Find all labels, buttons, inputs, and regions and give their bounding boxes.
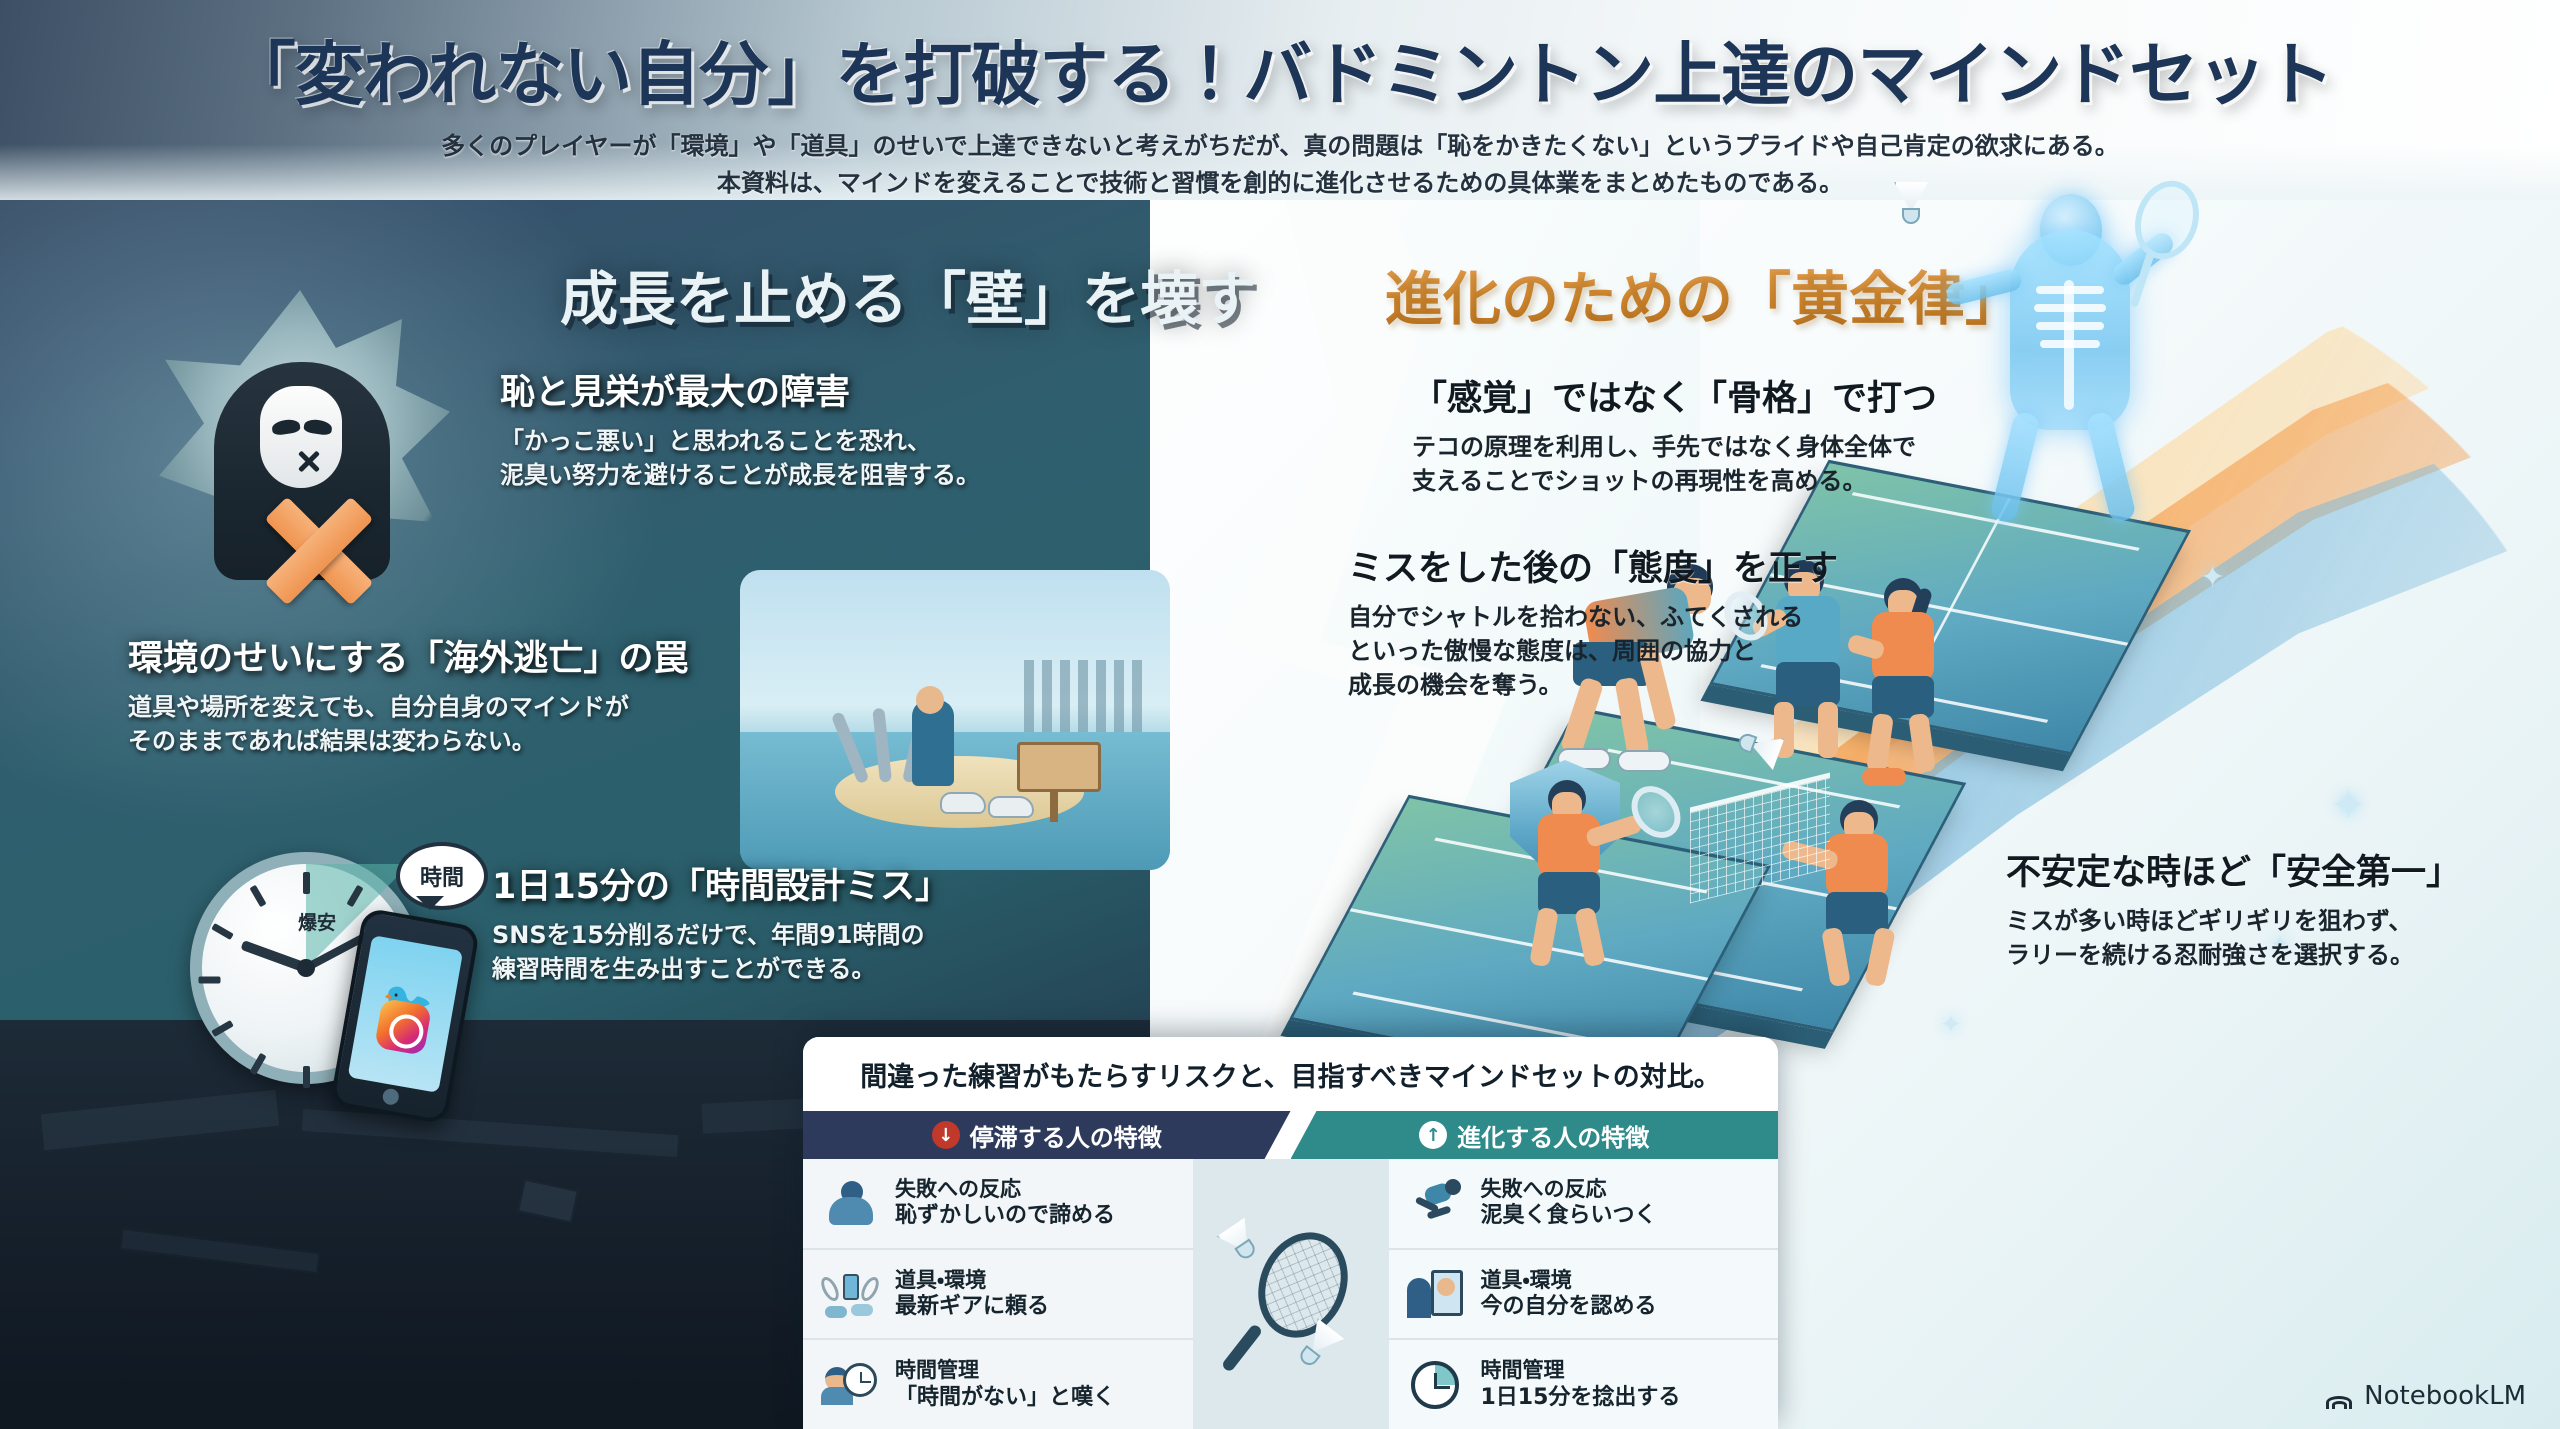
skeleton-right-leg [2085,410,2137,523]
player-rally-left-illustration [1530,780,1680,970]
player-leg-right [1818,702,1838,758]
row-detail: 「時間がない」と嘆く [895,1384,1115,1412]
clock-center-pin [297,959,315,977]
block-body-line-3: 成長の機会を奪う。 [1348,668,1838,702]
row-text: 失敗への反応 恥ずかしいので諦める [895,1177,1115,1230]
right-block-safety-first: 不安定な時ほど「安全第一」 ミスが多い時ほどギリギリを狙わず、 ラリーを続ける忍… [2006,852,2461,972]
left-block-escape-trap: 環境のせいにする「海外逃亡」の罠 道具や場所を変えても、自分自身のマインドが そ… [128,638,688,758]
block-title: 環境のせいにする「海外逃亡」の罠 [128,638,688,682]
player-shoe [1862,768,1906,786]
block-body-line-1: SNSを15分削るだけで、年間91時間の [492,918,950,952]
column-header-stagnating: ↓ 停滞する人の特徴 [803,1111,1291,1159]
skeleton-torso [2010,230,2130,430]
right-block-attitude: ミスをした後の「態度」を正す 自分でシャトルを拾わない、ふてくされる といった傲… [1348,548,1838,702]
clock-icon [1405,1357,1467,1413]
column-header-evolving: ↑ 進化する人の特徴 [1291,1111,1779,1159]
hooded-anonymous-figure-illustration [150,290,450,580]
comparison-table: 間違った練習がもたらすリスクと、目指すべきマインドセットの対比。 ↓ 停滞する人… [803,1037,1778,1429]
distant-city-skyline [1024,660,1144,738]
row-detail: 泥臭く食らいつく [1481,1202,1657,1230]
player-torso [1538,814,1600,878]
phone-home-button [381,1087,400,1106]
block-body-line-2: といった傲慢な態度は、周囲の協力と [1348,634,1838,668]
sparkle-icon: ✦ [1940,1010,1962,1040]
block-title: 「感覚」ではなく「骨格」で打つ [1412,378,1937,422]
block-body-line-2: 支えることでショットの再現性を高める。 [1412,464,1937,498]
notebooklm-watermark: NotebookLM [2324,1381,2526,1411]
player-shoe [1617,750,1671,772]
stressed-person-clock-icon [819,1357,881,1413]
block-body-line-2: 泥臭い努力を避けることが成長を阻害する。 [500,458,980,492]
comparison-table-title: 間違った練習がもたらすリスクと、目指すべきマインドセットの対比。 [803,1037,1778,1111]
table-row: 失敗への反応 泥臭く食らいつく [1389,1159,1779,1250]
row-text: 時間管理 1日15分を捻出する [1481,1358,1681,1411]
block-body-line-1: 自分でシャトルを拾わない、ふてくされる [1348,600,1838,634]
column-header-label: 停滞する人の特徴 [970,1118,1162,1153]
player-leg-right [1908,713,1936,773]
player-leg-left [1866,713,1894,773]
racket-shuttlecock-icon [1193,1159,1389,1429]
row-category: 時間管理 [895,1358,1115,1383]
xray-skeleton-player-illustration [1940,190,2210,530]
block-title: 1日15分の「時間設計ミス」 [492,866,950,910]
sparkle-icon: ✦ [2200,560,2225,595]
row-detail: 1日15分を捻出する [1481,1384,1681,1412]
left-section-heading: 成長を止める「壁」を壊す [560,252,1256,336]
column-stagnating: 失敗への反応 恥ずかしいので諦める [803,1159,1193,1429]
row-detail: 恥ずかしいので諦める [895,1202,1115,1230]
row-category: 道具・環境 [1481,1268,1657,1293]
arrow-up-icon: ↑ [1419,1121,1447,1149]
clock-label: 爆安 [298,908,336,935]
infographic-canvas: ✦ ✦ ✦ ✦ 「変われない自分」を打破する！バドミントン上達のマインドセット … [0,0,2560,1429]
mask-eye-left [271,418,301,436]
left-block-time-design: 1日15分の「時間設計ミス」 SNSを15分削るだけで、年間91時間の 練習時間… [492,866,950,986]
column-evolving: 失敗への反応 泥臭く食らいつく 道具・環境 今の自分を認める [1389,1159,1779,1429]
right-block-skeleton: 「感覚」ではなく「骨格」で打つ テコの原理を利用し、手先ではなく身体全体で 支え… [1412,378,1937,498]
signboard-icon [1017,742,1101,792]
comparison-table-body: 失敗への反応 恥ずかしいので諦める [803,1159,1778,1429]
row-category: 失敗への反応 [895,1177,1115,1202]
shoe-icon [988,796,1034,818]
table-row: 失敗への反応 恥ずかしいので諦める [803,1159,1193,1250]
mask-eye-right [303,418,333,436]
player-leg-left [1529,907,1559,968]
racket-grip [1220,1323,1263,1373]
sad-person-icon [819,1175,881,1231]
big-x-cross-icon [258,490,380,612]
row-category: 時間管理 [1481,1358,1681,1383]
shuttlecock-icon [1894,182,1928,224]
left-block-shame: 恥と見栄が最大の障害 「かっこ悪い」と思われることを恐れ、 泥臭い努力を避けるこ… [500,372,980,492]
row-detail: 今の自分を認める [1481,1293,1657,1321]
row-text: 道具・環境 最新ギアに頼る [895,1268,1049,1321]
column-header-label: 進化する人の特徴 [1457,1118,1649,1153]
row-category: 失敗への反応 [1481,1177,1657,1202]
block-body-line-1: 「かっこ悪い」と思われることを恐れ、 [500,424,980,458]
block-title: 不安定な時ほど「安全第一」 [2006,852,2461,896]
right-section-heading: 進化のための「黄金律」 [1385,252,2023,336]
sparkle-icon: ✦ [2330,780,2367,831]
page-title: 「変われない自分」を打破する！バドミントン上達のマインドセット [0,18,2560,118]
island-scene [740,570,1170,870]
row-text: 時間管理 「時間がない」と嘆く [895,1358,1115,1411]
player-leg-right [1574,907,1606,968]
player-female-illustration [1858,578,1978,784]
player-leg-left [1821,927,1851,988]
block-title: 恥と見栄が最大の障害 [500,372,980,416]
gear-equipment-icon [819,1266,881,1322]
player-shorts [1872,676,1934,718]
phone-screen: 🐦 [348,935,464,1093]
row-text: 道具・環境 今の自分を認める [1481,1268,1657,1321]
row-text: 失敗への反応 泥臭く食らいつく [1481,1177,1657,1230]
comparison-table-headers: ↓ 停滞する人の特徴 ↑ 進化する人の特徴 [803,1111,1778,1159]
block-body-line-2: そのままであれば結果は変わらない。 [128,724,688,758]
island-escape-illustration [740,570,1170,870]
table-row: 道具・環境 最新ギアに頼る [803,1250,1193,1341]
subtitle-line-1: 多くのプレイヤーが「環境」や「道具」のせいで上達できないと考えがちだが、真の問題… [0,128,2560,165]
table-row: 時間管理 「時間がない」と嘆く [803,1340,1193,1429]
shuttlecock-icon [1216,1220,1261,1267]
arrow-down-icon: ↓ [932,1121,960,1149]
block-title: ミスをした後の「態度」を正す [1348,548,1838,592]
clock-and-phone-illustration: 爆安 時間 🐦 [180,830,510,1120]
row-detail: 最新ギアに頼る [895,1293,1049,1321]
block-body-line-1: テコの原理を利用し、手先ではなく身体全体で [1412,430,1937,464]
mirror-self-icon [1405,1266,1467,1322]
watermark-label: NotebookLM [2364,1381,2526,1411]
instagram-icon [374,998,432,1056]
row-category: 道具・環境 [895,1268,1049,1293]
crossed-mouth-icon [296,448,322,474]
block-body-line-1: 道具や場所を変えても、自分自身のマインドが [128,690,688,724]
table-row: 道具・環境 今の自分を認める [1389,1250,1779,1341]
notebooklm-logo-icon [2324,1383,2354,1409]
table-row: 時間管理 1日15分を捻出する [1389,1340,1779,1429]
player-leg-right [1864,927,1896,988]
shoe-icon [940,792,986,814]
time-speech-bubble: 時間 [396,842,488,910]
block-body-line-2: ラリーを続ける忍耐強さを選択する。 [2006,938,2461,972]
diving-player-icon [1405,1175,1467,1231]
skeleton-left-leg [1989,410,2041,523]
block-body-line-1: ミスが多い時ほどギリギリを狙わず、 [2006,904,2461,938]
block-body-line-2: 練習時間を生み出すことができる。 [492,952,950,986]
